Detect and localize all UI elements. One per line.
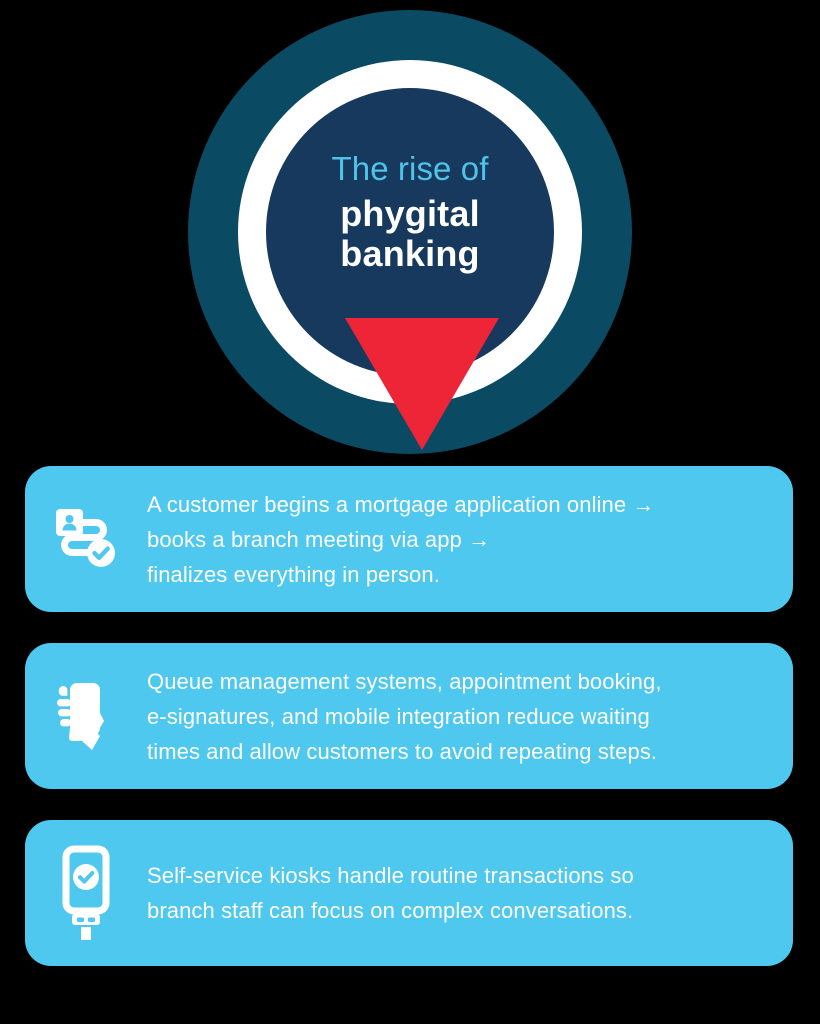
downward-pointer-triangle-icon: [345, 318, 499, 450]
list-item: A customer begins a mortgage application…: [25, 466, 793, 612]
hero-title-line-2: phygital: [266, 193, 554, 235]
list-item-text: Queue management systems, appointment bo…: [147, 664, 793, 769]
list-item-text: A customer begins a mortgage application…: [147, 487, 793, 592]
hero-title-line-3: banking: [266, 233, 554, 275]
customer-journey-icon: [25, 503, 147, 575]
phygital-banking-badge: The rise of phygital banking: [188, 10, 632, 466]
list-item: Queue management systems, appointment bo…: [25, 643, 793, 789]
hand-holding-phone-icon: [25, 677, 147, 755]
infographic-canvas: The rise of phygital banking A customer …: [0, 0, 820, 1024]
self-service-kiosk-icon: [25, 845, 147, 941]
hero-title-line-1: The rise of: [266, 150, 554, 189]
hero-title: The rise of phygital banking: [266, 150, 554, 276]
list-item-text: Self-service kiosks handle routine trans…: [147, 858, 793, 928]
list-item: Self-service kiosks handle routine trans…: [25, 820, 793, 966]
